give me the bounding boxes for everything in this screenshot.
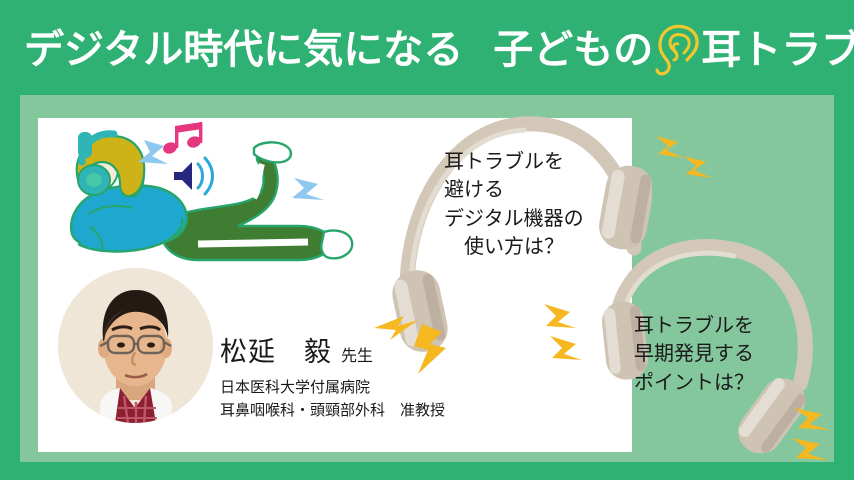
doctor-honorific: 先生 [341,342,373,366]
header-bar: デジタル時代に気になる 子どもの 耳トラブル [0,0,854,95]
title-part-2: 子どもの [493,17,653,75]
slide-canvas: デジタル時代に気になる 子どもの 耳トラブル [0,0,854,480]
ear-icon [654,22,700,78]
title-part-3: 耳トラブル [701,17,854,75]
doctor-affiliation-line-1: 日本医科大学付属病院 [220,377,550,400]
lightning-bolt-icon-group-topright [648,132,728,192]
question-text-1: 耳トラブルを 避ける デジタル機器の 使い方は？ [444,148,584,262]
child-illustration [48,122,378,272]
title-part-1: デジタル時代に気になる [24,17,463,75]
lightning-bolt-icon-group-center [370,302,480,380]
doctor-name: 松延 毅 [220,330,332,369]
page-title: デジタル時代に気になる 子どもの 耳トラブル [24,16,854,76]
doctor-portrait-photo [58,268,213,423]
lightning-bolt-icon-group-bottom [788,404,850,468]
question-text-2: 耳トラブルを 早期発見する ポイントは？ [634,312,754,397]
lightning-bolt-icon-group-mid [530,300,620,370]
doctor-affiliation-line-2: 耳鼻咽喉科・頭頸部外科 准教授 [220,400,550,423]
